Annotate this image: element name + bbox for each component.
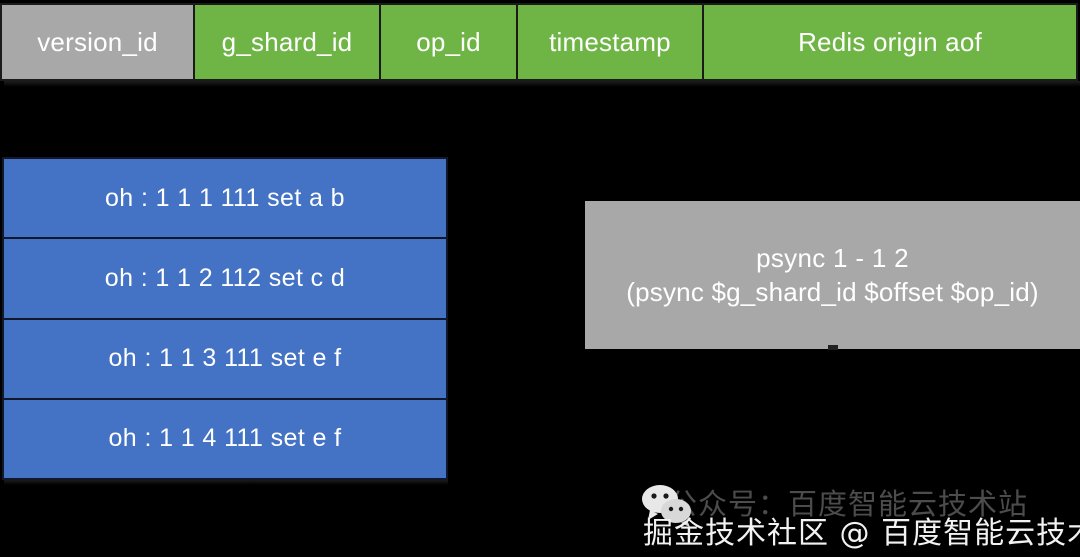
- watermark-main-label: 掘金技术社区 @ 百度智能云技术站: [643, 508, 1080, 552]
- watermark-community-credit: 掘金技术社区 @ 百度智能云技术站: [643, 508, 1080, 552]
- aof-record-text: oh : 1 1 2 112 set c d: [105, 264, 345, 293]
- psync-command-example: psync 1 - 1 2: [756, 241, 909, 275]
- table-header-cell-op-id: op_id: [379, 3, 518, 81]
- list-item: oh : 1 1 4 111 set e f: [4, 400, 446, 478]
- list-item: oh : 1 1 3 111 set e f: [4, 320, 446, 400]
- table-header-label: timestamp: [549, 27, 671, 58]
- header-table-shadow: [4, 81, 1080, 87]
- list-item: oh : 1 1 1 111 set a b: [4, 159, 446, 239]
- aof-list-shadow: [4, 480, 448, 485]
- psync-command-callout: psync 1 - 1 2 (psync $g_shard_id $offset…: [585, 201, 1080, 349]
- table-header-label: version_id: [37, 27, 158, 58]
- table-header-cell-timestamp: timestamp: [516, 3, 704, 81]
- table-header-label: Redis origin aof: [798, 27, 982, 58]
- aof-record-text: oh : 1 1 4 111 set e f: [108, 424, 341, 453]
- table-header-label: op_id: [416, 27, 481, 58]
- psync-command-template: (psync $g_shard_id $offset $op_id): [626, 275, 1038, 309]
- list-item: oh : 1 1 2 112 set c d: [4, 239, 446, 319]
- table-header-cell-version-id: version_id: [0, 3, 195, 81]
- table-header-cell-redis-origin-aof: Redis origin aof: [702, 3, 1078, 81]
- table-header-cell-g-shard-id: g_shard_id: [193, 3, 381, 81]
- aof-record-text: oh : 1 1 3 111 set e f: [108, 344, 341, 373]
- aof-record-text: oh : 1 1 1 111 set a b: [105, 184, 345, 213]
- aof-record-list: oh : 1 1 1 111 set a b oh : 1 1 2 112 se…: [2, 157, 448, 480]
- schema-header-table: version_id g_shard_id op_id timestamp Re…: [0, 3, 1080, 81]
- psync-callout-pointer: [828, 345, 838, 350]
- table-header-label: g_shard_id: [222, 27, 353, 58]
